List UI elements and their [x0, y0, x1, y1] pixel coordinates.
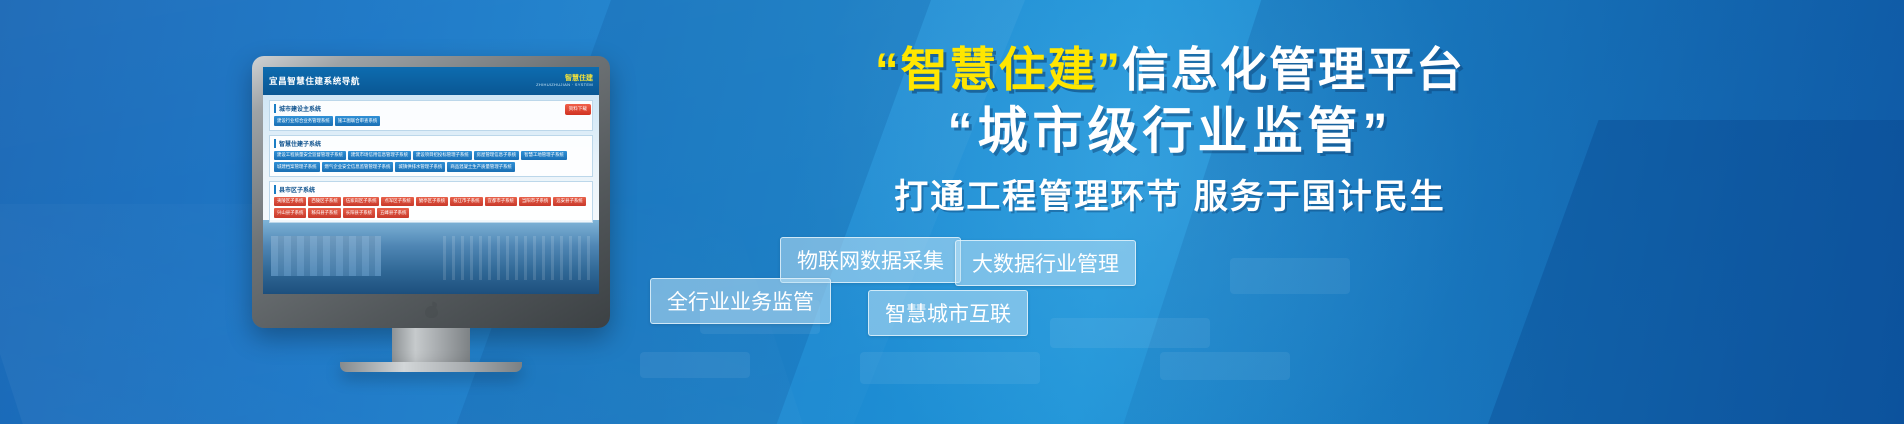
panel-title: 城市建设主系统 — [274, 104, 588, 113]
district-chip[interactable]: 点军区子系统 — [381, 197, 413, 207]
imac-screen: 宜昌智慧住建系统导航 智慧住建 ZHIHUIZHUJIAN · SYSTEM 资… — [263, 67, 599, 294]
imac-base — [340, 362, 522, 372]
district-chip[interactable]: 猇亭区子系统 — [416, 197, 448, 207]
background-ghost-rect — [1160, 352, 1290, 380]
headline-block: “智慧住建”信息化管理平台 “城市级行业监管” 打通工程管理环节 服务于国计民生 — [640, 44, 1700, 218]
system-chip[interactable]: 施工图联合审查系统 — [335, 116, 381, 126]
system-chip[interactable]: 燃气企业安全信息监管管理子系统 — [322, 162, 394, 172]
imac-bezel: 宜昌智慧住建系统导航 智慧住建 ZHIHUIZHUJIAN · SYSTEM 资… — [252, 56, 610, 328]
system-chip[interactable]: 建设工程质量安全监督管理子系统 — [274, 151, 346, 161]
district-chip[interactable]: 五峰县子系统 — [377, 208, 409, 218]
headline-rest-text: 信息化管理平台 — [1122, 43, 1465, 96]
district-chip[interactable]: 秭归县子系统 — [308, 208, 340, 218]
screen-header-title: 宜昌智慧住建系统导航 — [269, 75, 360, 87]
system-chip[interactable]: 城镇供排水管理子系统 — [395, 162, 445, 172]
background-ghost-rect — [1230, 258, 1350, 294]
background-ghost-rect — [860, 352, 1040, 384]
screen-city-photo — [263, 220, 599, 294]
headline-highlight-text: “智慧住建” — [875, 43, 1122, 96]
screen-logo-en: ZHIHUIZHUJIAN · SYSTEM — [536, 83, 593, 87]
download-button[interactable]: 资料下载 — [565, 104, 591, 115]
feature-tag-iot-data[interactable]: 物联网数据采集 — [780, 237, 961, 283]
screen-body: 资料下载 城市建设主系统 建设行业综合业务管理系统 施工图联合审查系统 智慧住建… — [263, 95, 599, 294]
imac-stand — [392, 328, 470, 364]
headline-line-1: “智慧住建”信息化管理平台 — [640, 44, 1700, 97]
system-chip[interactable]: 城建档案管理子系统 — [274, 162, 320, 172]
panel-title: 县市区子系统 — [274, 185, 588, 194]
panel-title: 智慧住建子系统 — [274, 139, 588, 148]
district-chip[interactable]: 长阳县子系统 — [343, 208, 375, 218]
district-chip[interactable]: 伍家岗区子系统 — [343, 197, 380, 207]
system-chip[interactable]: 智慧工地管理子系统 — [521, 151, 567, 161]
feature-tag-smart-city[interactable]: 智慧城市互联 — [868, 290, 1028, 336]
screen-header: 宜昌智慧住建系统导航 智慧住建 ZHIHUIZHUJIAN · SYSTEM — [263, 67, 599, 95]
system-chip[interactable]: 建设行业综合业务管理系统 — [274, 116, 333, 126]
headline-line-3: 打通工程管理环节 服务于国计民生 — [640, 169, 1700, 218]
headline-line-2: “城市级行业监管” — [640, 103, 1700, 159]
promo-banner: 宜昌智慧住建系统导航 智慧住建 ZHIHUIZHUJIAN · SYSTEM 资… — [0, 0, 1904, 424]
panel-chip-list: 建设行业综合业务管理系统 施工图联合审查系统 — [274, 116, 588, 126]
system-chip[interactable]: 建筑市场信用信息管理子系统 — [348, 151, 411, 161]
imac-chin — [263, 297, 599, 323]
background-ghost-rect — [1050, 318, 1210, 348]
screen-panel-district-system: 县市区子系统 夷陵区子系统 西陵区子系统 伍家岗区子系统 点军区子系统 猇亭区子… — [269, 181, 593, 223]
feature-tag-industry-supervision[interactable]: 全行业业务监管 — [650, 278, 831, 324]
screen-panel-main-system: 城市建设主系统 建设行业综合业务管理系统 施工图联合审查系统 — [269, 100, 593, 131]
district-chip[interactable]: 宜都市子系统 — [485, 197, 517, 207]
system-chip[interactable]: 房屋管理信息子系统 — [474, 151, 520, 161]
panel-chip-list: 建设工程质量安全监督管理子系统 建筑市场信用信息管理子系统 建设项目招投标管理子… — [274, 151, 588, 172]
imac-mockup: 宜昌智慧住建系统导航 智慧住建 ZHIHUIZHUJIAN · SYSTEM 资… — [252, 56, 610, 328]
district-chip[interactable]: 兴山县子系统 — [274, 208, 306, 218]
feature-tag-bigdata-management[interactable]: 大数据行业管理 — [955, 240, 1136, 286]
district-chip[interactable]: 远安县子系统 — [553, 197, 585, 207]
screen-logo: 智慧住建 ZHIHUIZHUJIAN · SYSTEM — [536, 75, 593, 87]
district-chip[interactable]: 当阳市子系统 — [519, 197, 551, 207]
screen-panel-sub-system: 智慧住建子系统 建设工程质量安全监督管理子系统 建筑市场信用信息管理子系统 建设… — [269, 135, 593, 177]
apple-logo-icon — [425, 303, 438, 318]
system-chip[interactable]: 商品混凝土生产质量管理子系统 — [447, 162, 514, 172]
district-chip[interactable]: 枝江市子系统 — [450, 197, 482, 207]
background-ghost-rect — [640, 352, 750, 378]
district-chip[interactable]: 西陵区子系统 — [308, 197, 340, 207]
district-chip[interactable]: 夷陵区子系统 — [274, 197, 306, 207]
system-chip[interactable]: 建设项目招投标管理子系统 — [413, 151, 472, 161]
panel-chip-list: 夷陵区子系统 西陵区子系统 伍家岗区子系统 点军区子系统 猇亭区子系统 枝江市子… — [274, 197, 588, 218]
